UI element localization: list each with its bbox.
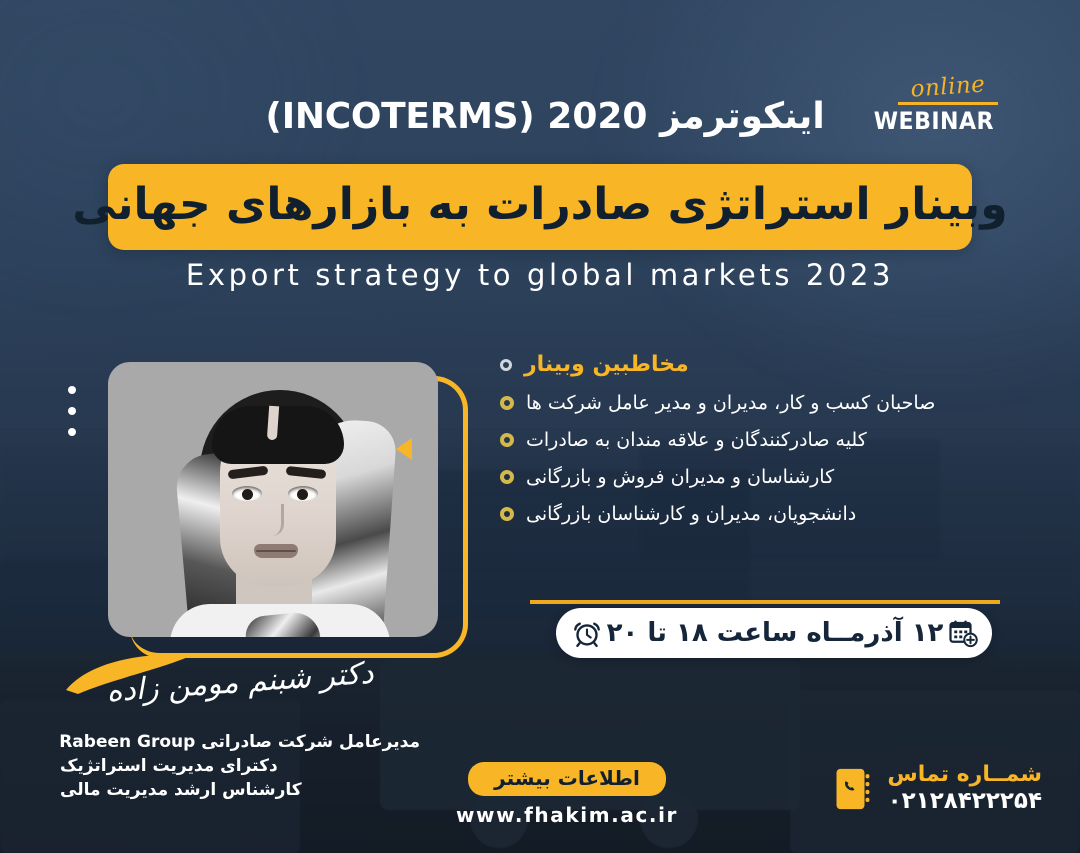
badge-webinar-label: WEBINAR — [902, 109, 994, 133]
list-item: صاحبان کسب و کار، مدیران و مدیر عامل شرک… — [500, 392, 1054, 414]
list-item: دانشجویان، مدیران و کارشناسان بازرگانی — [500, 503, 1054, 525]
audience-heading-row: مخاطبین وبینار — [500, 352, 1054, 377]
bullet-ring-icon — [500, 507, 514, 521]
bullet-ring-icon — [500, 433, 514, 447]
audience-heading: مخاطبین وبینار — [524, 352, 689, 377]
contact-label: شمــاره تماس — [887, 762, 1042, 788]
date-time-banner: ۱۲ آذرمــاه ساعت ۱۸ تا ۲۰ — [556, 608, 992, 658]
list-item: کارشناسان و مدیران فروش و بازرگانی — [500, 466, 1054, 488]
speaker-credential-line: دکترای مدیریت استراتژیک — [60, 754, 420, 778]
list-item: کلیه صادرکنندگان و علاقه مندان به صادرات — [500, 429, 1054, 451]
more-info-button[interactable]: اطلاعات بیشتر — [468, 762, 666, 796]
bullet-ring-icon — [500, 359, 512, 371]
speaker-credential-line: کارشناس ارشد مدیریت مالی — [60, 778, 420, 802]
decorative-dots — [68, 386, 76, 449]
audience-item-label: دانشجویان، مدیران و کارشناسان بازرگانی — [526, 503, 856, 525]
contact-number[interactable]: ۰۲۱۲۸۴۲۲۲۵۴ — [887, 788, 1042, 816]
webinar-poster: online WEBINAR اینکوترمز 2020 (INCOTERMS… — [0, 0, 1080, 853]
badge-online-label: online — [897, 73, 998, 103]
page-subtitle: Export strategy to global markets 2023 — [0, 258, 1080, 292]
page-title: وبینار استراتژی صادرات به بازارهای جهانی — [72, 183, 1007, 231]
audience-item-label: کارشناسان و مدیران فروش و بازرگانی — [526, 466, 834, 488]
alarm-clock-icon — [572, 618, 602, 648]
page-title-bar: وبینار استراتژی صادرات به بازارهای جهانی — [108, 164, 972, 250]
website-url[interactable]: www.fhakim.ac.ir — [452, 803, 682, 827]
calendar-plus-icon — [948, 618, 978, 648]
speaker-avatar — [108, 362, 438, 637]
audience-item-label: کلیه صادرکنندگان و علاقه مندان به صادرات — [526, 429, 867, 451]
online-webinar-badge: online WEBINAR — [898, 76, 998, 133]
bullet-ring-icon — [500, 396, 514, 410]
date-time-text: ۱۲ آذرمــاه ساعت ۱۸ تا ۲۰ — [607, 618, 944, 648]
phone-book-icon — [833, 766, 875, 812]
contact-block: شمــاره تماس ۰۲۱۲۸۴۲۲۲۵۴ — [833, 762, 1042, 816]
speaker-photo-block — [108, 362, 448, 647]
play-triangle-icon — [396, 438, 412, 460]
audience-list: مخاطبین وبینار صاحبان کسب و کار، مدیران … — [500, 352, 1080, 540]
date-accent-rule — [530, 600, 1000, 604]
audience-item-label: صاحبان کسب و کار، مدیران و مدیر عامل شرک… — [526, 392, 935, 414]
speaker-credential-line: مدیرعامل شرکت صادراتی Rabeen Group — [60, 730, 420, 754]
bullet-ring-icon — [500, 470, 514, 484]
speaker-credentials: مدیرعامل شرکت صادراتی Rabeen Group دکترا… — [60, 730, 420, 802]
page-kicker: اینکوترمز 2020 (INCOTERMS) — [200, 96, 890, 137]
cta-block: اطلاعات بیشتر www.fhakim.ac.ir — [452, 762, 682, 827]
